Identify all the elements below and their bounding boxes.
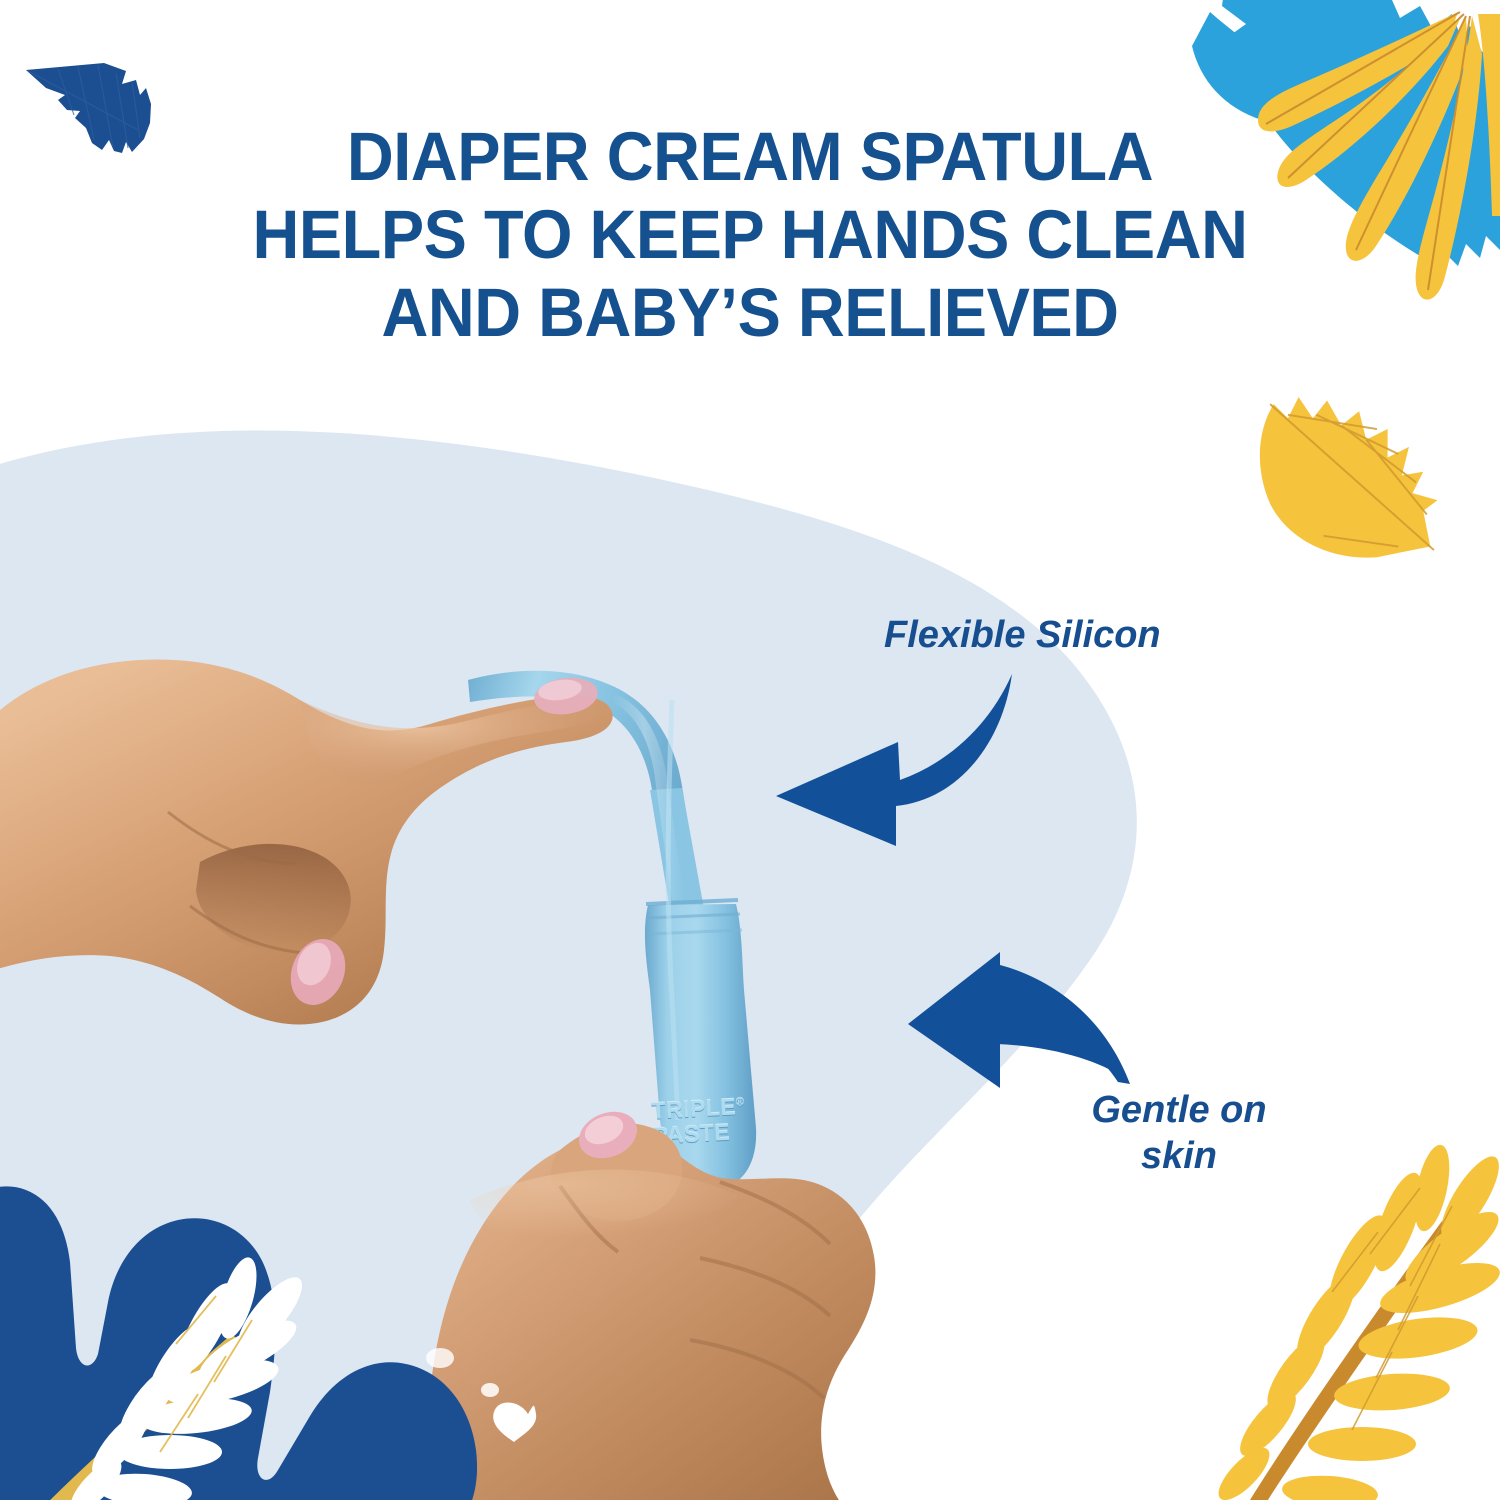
curved-arrow-left-lower-icon: [908, 952, 1130, 1088]
product-marketing-image: TRIPLE® PASTE: [0, 0, 1500, 1500]
curved-arrow-left-upper-icon: [776, 674, 1012, 846]
fern-branch-yellow-icon: [1211, 1142, 1500, 1500]
